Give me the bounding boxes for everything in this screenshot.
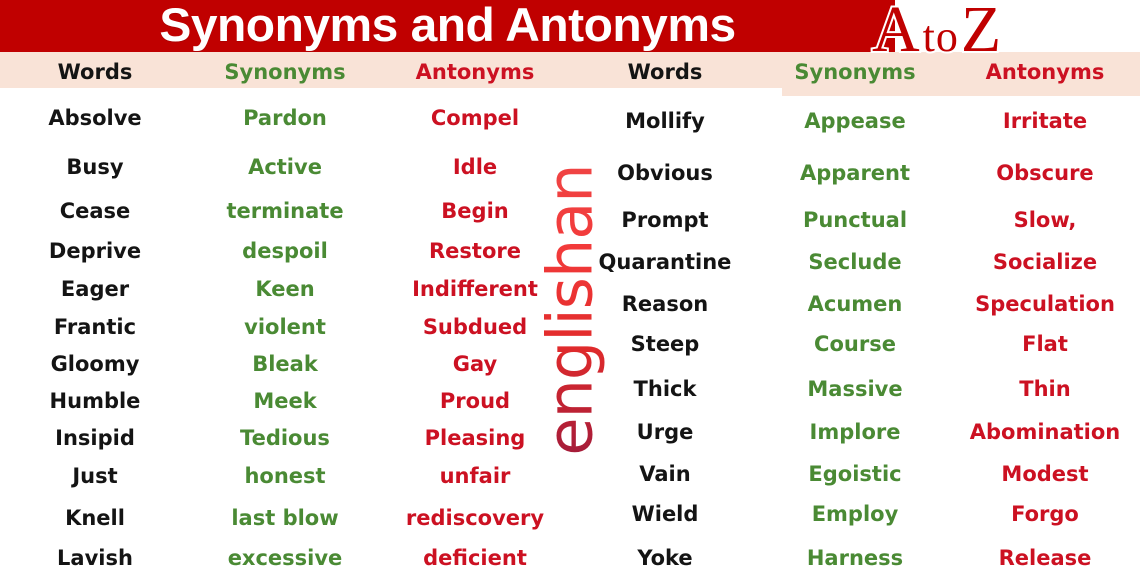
cell-synonym-right: Punctual [760, 208, 950, 232]
cell-synonym-right: Massive [760, 377, 950, 401]
cell-word-right: Vain [570, 462, 760, 486]
cell-synonym-right: Harness [760, 546, 950, 570]
cell-synonym-left: terminate [190, 199, 380, 223]
cell-synonym-left: Bleak [190, 352, 380, 376]
cell-word-left: Busy [0, 155, 190, 179]
cell-word-left: Lavish [0, 546, 190, 570]
table-row: InsipidTediousPleasing [0, 426, 570, 450]
cell-synonym-right: Implore [760, 420, 950, 444]
cell-word-left: Just [0, 464, 190, 488]
cell-synonym-left: excessive [190, 546, 380, 570]
cell-word-left: Frantic [0, 315, 190, 339]
cell-synonym-left: honest [190, 464, 380, 488]
cell-synonym-left: Meek [190, 389, 380, 413]
table-row: Justhonestunfair [0, 464, 570, 488]
cell-word-left: Absolve [0, 106, 190, 130]
cell-antonym-right: Flat [950, 332, 1140, 356]
table-row: ThickMassiveThin [570, 377, 1140, 401]
table-row: UrgeImploreAbomination [570, 420, 1140, 444]
table-row: QuarantineSecludeSocialize [570, 250, 1140, 274]
table-row: MollifyAppeaseIrritate [570, 109, 1140, 133]
table-row: VainEgoisticModest [570, 462, 1140, 486]
table-row: BusyActiveIdle [0, 155, 570, 179]
table-row: Knelllast blowrediscovery [0, 506, 570, 530]
table-left-half: AbsolvePardonCompelBusyActiveIdleCeasete… [0, 96, 570, 587]
table-right-half: MollifyAppeaseIrritateObviousApparentObs… [570, 96, 1140, 587]
cell-antonym-right: Modest [950, 462, 1140, 486]
cell-synonym-right: Employ [760, 502, 950, 526]
cell-antonym-right: Forgo [950, 502, 1140, 526]
cell-word-left: Cease [0, 199, 190, 223]
table-row: SteepCourseFlat [570, 332, 1140, 356]
column-header-synonyms-left: Synonyms [190, 52, 380, 92]
cell-antonym-right: Slow, [950, 208, 1140, 232]
table-row: CeaseterminateBegin [0, 199, 570, 223]
cell-word-left: Eager [0, 277, 190, 301]
cell-antonym-left: rediscovery [380, 506, 570, 530]
table-row: AbsolvePardonCompel [0, 106, 570, 130]
column-header-words-right: Words [570, 52, 760, 92]
table-row: ReasonAcumenSpeculation [570, 292, 1140, 316]
cell-word-right: Mollify [570, 109, 760, 133]
cell-word-left: Humble [0, 389, 190, 413]
englishan-watermark: englishan [534, 164, 607, 455]
table-row: Lavishexcessivedeficient [0, 546, 570, 570]
cell-synonym-right: Apparent [760, 161, 950, 185]
cell-word-right: Wield [570, 502, 760, 526]
table-row: ObviousApparentObscure [570, 161, 1140, 185]
cell-antonym-right: Obscure [950, 161, 1140, 185]
page-title: Synonyms and Antonyms [0, 0, 904, 54]
cell-antonym-right: Irritate [950, 109, 1140, 133]
table-row: YokeHarnessRelease [570, 546, 1140, 570]
cell-word-left: Knell [0, 506, 190, 530]
table-row: DeprivedespoilRestore [0, 239, 570, 263]
cell-synonym-right: Acumen [760, 292, 950, 316]
cell-word-right: Yoke [570, 546, 760, 570]
cell-synonym-left: last blow [190, 506, 380, 530]
table-row: FranticviolentSubdued [0, 315, 570, 339]
cell-synonym-right: Appease [760, 109, 950, 133]
cell-antonym-right: Socialize [950, 250, 1140, 274]
table-row: GloomyBleakGay [0, 352, 570, 376]
cell-word-left: Deprive [0, 239, 190, 263]
table-row: PromptPunctualSlow, [570, 208, 1140, 232]
cell-antonym-left: Compel [380, 106, 570, 130]
table-row: EagerKeenIndifferent [0, 277, 570, 301]
cell-antonym-left: deficient [380, 546, 570, 570]
cell-antonym-right: Release [950, 546, 1140, 570]
table-row: HumbleMeekProud [0, 389, 570, 413]
column-header-antonyms-left: Antonyms [380, 52, 570, 92]
cell-word-left: Gloomy [0, 352, 190, 376]
column-header-words-left: Words [0, 52, 190, 92]
cell-word-left: Insipid [0, 426, 190, 450]
cell-antonym-right: Abomination [950, 420, 1140, 444]
cell-synonym-left: Keen [190, 277, 380, 301]
cell-synonym-left: violent [190, 315, 380, 339]
cell-synonym-right: Egoistic [760, 462, 950, 486]
cell-synonym-left: despoil [190, 239, 380, 263]
cell-synonym-left: Pardon [190, 106, 380, 130]
cell-antonym-right: Thin [950, 377, 1140, 401]
table-row: WieldEmployForgo [570, 502, 1140, 526]
cell-synonym-right: Course [760, 332, 950, 356]
table-header-row: Words Synonyms Antonyms Words Synonyms A… [0, 52, 1140, 92]
cell-antonym-left: unfair [380, 464, 570, 488]
column-header-antonyms-right: Antonyms [950, 52, 1140, 92]
cell-synonym-right: Seclude [760, 250, 950, 274]
cell-antonym-right: Speculation [950, 292, 1140, 316]
column-header-synonyms-right: Synonyms [760, 52, 950, 92]
cell-synonym-left: Tedious [190, 426, 380, 450]
cell-synonym-left: Active [190, 155, 380, 179]
